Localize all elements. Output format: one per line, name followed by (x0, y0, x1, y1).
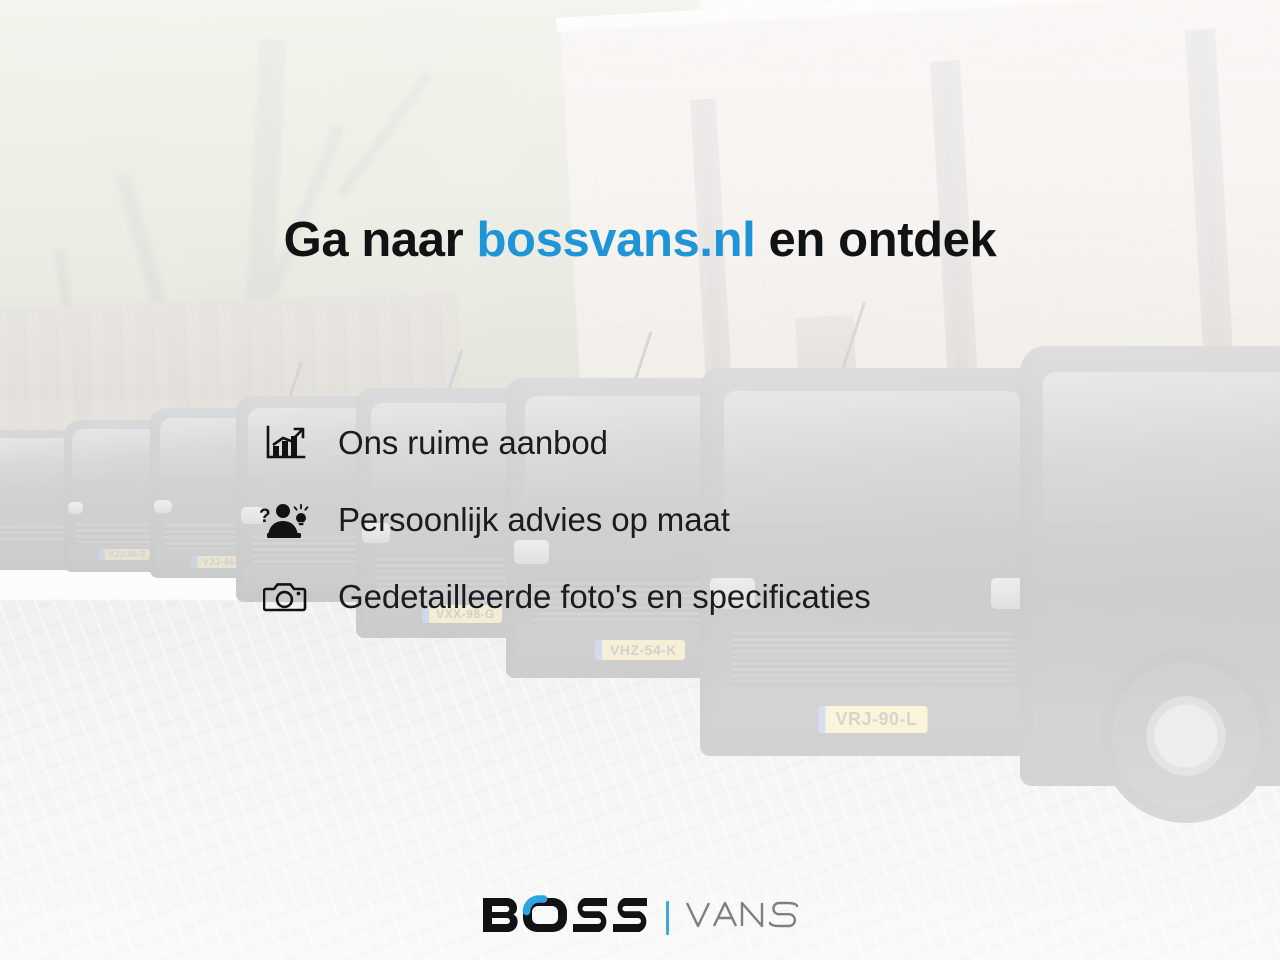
headline-brand: bossvans.nl (477, 213, 756, 267)
list-item-label: Gedetailleerde foto's en specificaties (338, 578, 871, 616)
camera-icon (258, 575, 312, 619)
logo-divider (666, 901, 669, 935)
page-title: Ga naar bossvans.nl en ontdek (0, 215, 1280, 267)
logo-boss-wordmark: BOSS (479, 893, 651, 942)
list-item: Ons ruime aanbod (258, 416, 871, 470)
feature-list: Ons ruime aanbod ? Persoonlijk advies op… (258, 416, 871, 624)
banner-content: Ga naar bossvans.nl en ontdek Ons ruime … (0, 0, 1280, 960)
svg-text:?: ? (259, 506, 271, 527)
logo-boss-text: BOSS (651, 893, 652, 894)
bar-chart-growth-icon (258, 421, 312, 465)
personal-advice-icon: ? (258, 498, 312, 542)
promo-banner: VJJ-46-Z VJJ-46-Z VXX-98-G (0, 0, 1280, 960)
logo-vans-text: VANS (802, 898, 803, 899)
list-item-label: Persoonlijk advies op maat (338, 501, 730, 539)
list-item: ? Persoonlijk advies op maat (258, 493, 871, 547)
list-item-label: Ons ruime aanbod (338, 424, 608, 462)
logo-vans-wordmark: VANS (684, 898, 802, 937)
headline-suffix: en ontdek (755, 213, 996, 267)
headline-prefix: Ga naar (284, 213, 477, 267)
brand-logo: BOSS VANS (0, 893, 1280, 942)
list-item: Gedetailleerde foto's en specificaties (258, 570, 871, 624)
